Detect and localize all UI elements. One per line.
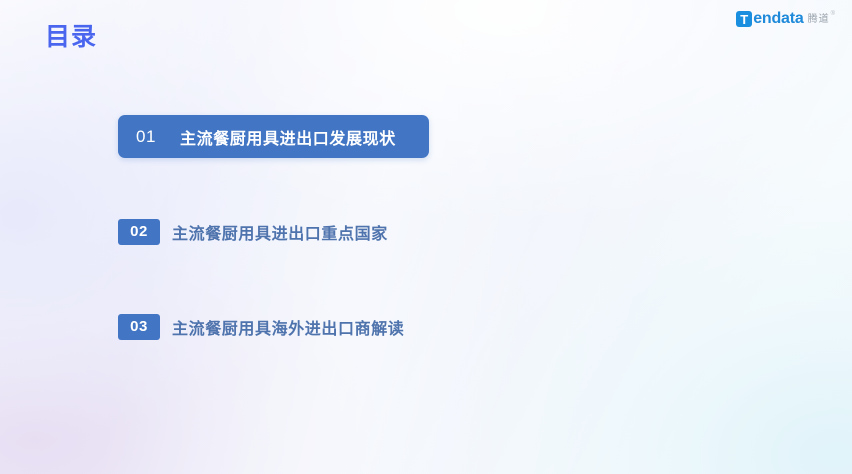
brand-wordmark: endata bbox=[753, 11, 803, 27]
toc-number-badge: 01 bbox=[124, 124, 168, 150]
toc-item-label: 主流餐厨用具海外进出口商解读 bbox=[172, 315, 404, 339]
toc-item-02[interactable]: 02 主流餐厨用具进出口重点国家 bbox=[118, 210, 638, 253]
tendata-t-mark-icon: T bbox=[736, 11, 752, 27]
toc-number-badge: 02 bbox=[118, 219, 160, 245]
toc-item-01[interactable]: 01 主流餐厨用具进出口发展现状 bbox=[118, 115, 429, 158]
toc-number-badge: 03 bbox=[118, 314, 160, 340]
brand-logo: T endata 腾道 ® bbox=[736, 9, 834, 29]
trademark-icon: ® bbox=[831, 11, 835, 17]
toc-item-03[interactable]: 03 主流餐厨用具海外进出口商解读 bbox=[118, 305, 638, 348]
brand-chinese-name: 腾道 bbox=[808, 15, 830, 25]
page-title: 目录 bbox=[45, 25, 97, 50]
toc-item-label: 主流餐厨用具进出口重点国家 bbox=[172, 220, 388, 244]
toc-item-label: 主流餐厨用具进出口发展现状 bbox=[180, 125, 396, 149]
slide-canvas: 目录 T endata 腾道 ® 01 主流餐厨用具进出口发展现状 02 主流餐… bbox=[0, 0, 852, 474]
table-of-contents: 01 主流餐厨用具进出口发展现状 02 主流餐厨用具进出口重点国家 03 主流餐… bbox=[118, 115, 638, 348]
